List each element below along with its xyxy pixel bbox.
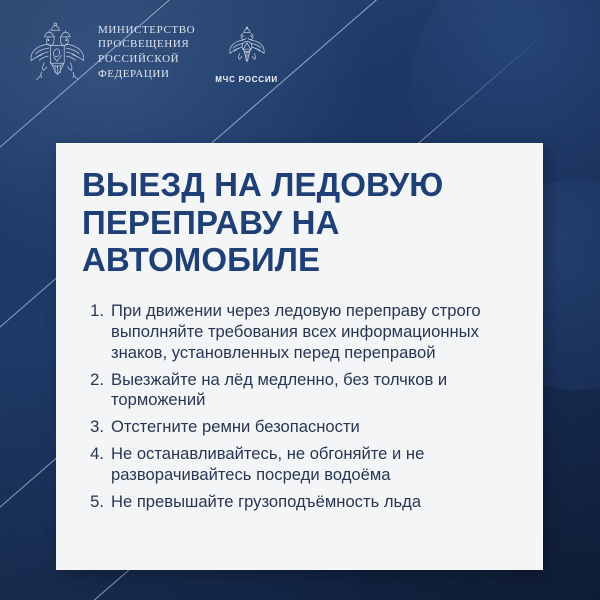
list-item: Не превышайте грузоподъёмность льда xyxy=(82,492,517,513)
list-item: Отстегните ремни безопасности xyxy=(82,417,517,438)
poster-canvas: МИНИСТЕРСТВО ПРОСВЕЩЕНИЯ РОССИЙСКОЙ ФЕДЕ… xyxy=(0,0,600,600)
ministry-name-block: МИНИСТЕРСТВО ПРОСВЕЩЕНИЯ РОССИЙСКОЙ ФЕДЕ… xyxy=(98,23,195,81)
ministry-line-2: ПРОСВЕЩЕНИЯ xyxy=(98,37,195,52)
mchs-caption: МЧС РОССИИ xyxy=(215,75,278,84)
rules-list: При движении через ледовую переправу стр… xyxy=(82,301,517,513)
list-item: Выезжайте на лёд медленно, без толчков и… xyxy=(82,370,517,412)
mchs-eagle-emblem xyxy=(224,25,270,73)
list-item: При движении через ледовую переправу стр… xyxy=(82,301,517,364)
list-item: Не останавливайтесь, не обгоняйте и не р… xyxy=(82,444,517,486)
mchs-logo-block: МЧС РОССИИ xyxy=(215,25,278,84)
page-title: ВЫЕЗД НА ЛЕДОВУЮ ПЕРЕПРАВУ НА АВТОМОБИЛЕ xyxy=(82,166,517,279)
russian-coat-of-arms-emblem xyxy=(22,19,88,85)
ministry-line-4: ФЕДЕРАЦИИ xyxy=(98,67,195,82)
content-card: ВЫЕЗД НА ЛЕДОВУЮ ПЕРЕПРАВУ НА АВТОМОБИЛЕ… xyxy=(56,143,543,570)
ministry-line-3: РОССИЙСКОЙ xyxy=(98,52,195,67)
header-bar: МИНИСТЕРСТВО ПРОСВЕЩЕНИЯ РОССИЙСКОЙ ФЕДЕ… xyxy=(0,0,600,104)
ministry-line-1: МИНИСТЕРСТВО xyxy=(98,23,195,38)
